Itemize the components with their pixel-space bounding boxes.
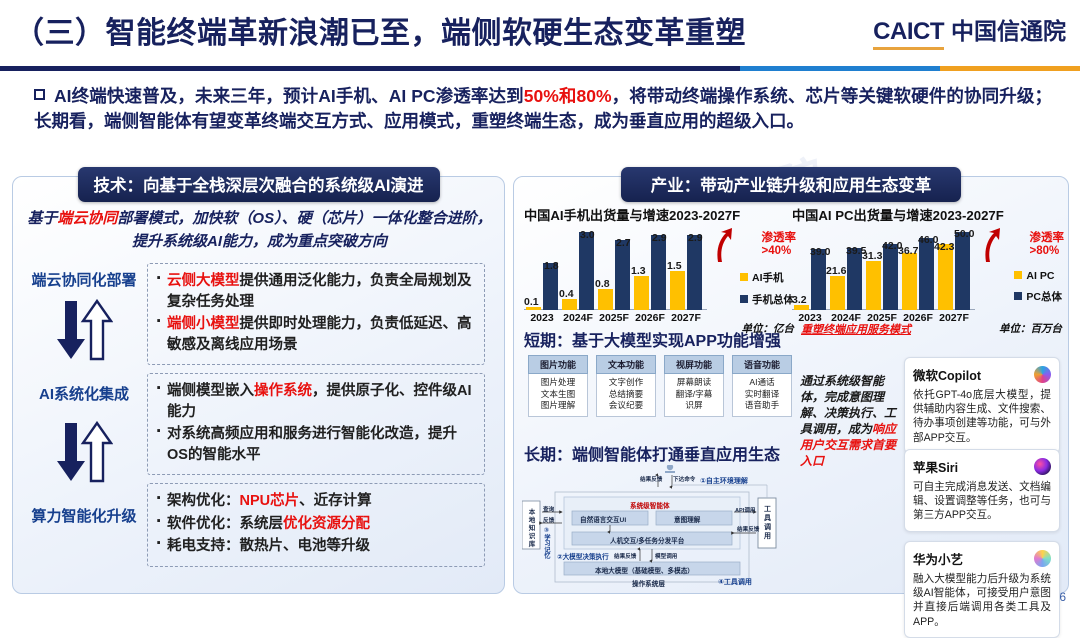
vendor-description: 融入大模型能力后升级为系统级AI智能体，可接受用户意图并直接后端调用各类工具及A…	[913, 572, 1051, 629]
func-col-header: 视屏功能	[664, 355, 724, 374]
detail-box-compute-upgrade: 架构优化：NPU芯片、近存计算 软件优化：系统层优化资源分配 耗电支持：散热片、…	[147, 483, 485, 567]
diagram-label-feedback: 反馈	[543, 516, 554, 524]
func-col-voice: 语音功能 AI通话 实时翻译 语音助手	[732, 355, 792, 417]
tech-lead-highlight: 端云协同	[57, 210, 117, 227]
x-tick-label: 2026F	[632, 312, 668, 324]
vendor-description: 依托GPT-4o底层大模型，提供辅助内容生成、文件搜索、待办事项创建等功能，可与…	[913, 388, 1051, 445]
bullet-text: 对系统高频应用和服务进行智能化改造，提升OS的智能水平	[167, 426, 457, 463]
func-item: 图片理解	[529, 400, 587, 412]
chart-plot-area: 0.1 1.8 0.4 3.0 0.8 2.7 1.3 2.9 1.5 2.9 …	[524, 226, 707, 322]
agent-architecture-diagram: 本地知识库 ③学习记忆 查询 反馈 结果反馈 下达命令 ①自主环境理解 系统级智…	[522, 465, 802, 587]
func-item: 实时翻译	[733, 389, 791, 401]
penetration-annotation: 渗透率 >80%	[1030, 232, 1065, 258]
func-col-screen: 视屏功能 屏幕朗读 翻译/字幕 识屏	[664, 355, 724, 417]
diagram-label-nlui: 自然语言交互UI	[580, 514, 626, 524]
copilot-icon	[1034, 366, 1051, 383]
bar-pc-total	[811, 249, 826, 310]
list-item: 云侧大模型提供通用泛化能力，负责全局规划及复杂任务处理	[154, 271, 476, 312]
bar-value-label: 50.0	[954, 228, 974, 240]
legend-item: PC总体	[1014, 289, 1062, 304]
vendor-card-copilot[interactable]: 微软Copilot 依托GPT-4o底层大模型，提供辅助内容生成、文件搜索、待办…	[904, 357, 1060, 454]
legend-item: AI PC	[1014, 270, 1062, 282]
bidirectional-arrow-icon	[55, 421, 113, 483]
chart-unit: 单位：百万台	[999, 321, 1062, 336]
legend-label: AI手机	[752, 272, 784, 284]
bar-value-label: 31.3	[862, 250, 882, 262]
page-title: （三）智能终端革新浪潮已至，端侧软硬生态变革重塑	[14, 8, 746, 52]
vendor-description: 可自主完成消息发送、文档编辑、设置调整等任务，也可与第三方APP交互。	[913, 480, 1051, 523]
bar-value-label: 0.1	[524, 296, 539, 308]
page-number: 6	[1059, 590, 1066, 604]
bar-ai-phone	[670, 271, 685, 310]
reshape-service-note: 重塑终端应用服务模式	[796, 323, 916, 337]
chart-title: 中国AI手机出货量与增速2023-2027F	[524, 205, 796, 224]
x-tick-label: 2024F	[560, 312, 596, 324]
bar-ai-pc	[866, 261, 881, 310]
diagram-label-platform: 人机交互/多任务分发平台	[610, 535, 684, 545]
diagram-label-api-call: API调用	[735, 506, 756, 514]
bar-ai-pc	[902, 253, 917, 310]
growth-arrow-icon	[980, 228, 1002, 262]
annotation-line-1: 渗透率	[762, 232, 797, 245]
func-item: 会议纪要	[597, 400, 655, 412]
header-divider	[0, 66, 1080, 71]
x-tick-label: 2023	[524, 312, 560, 324]
chart-legend: AI手机 手机总体	[740, 270, 794, 314]
x-tick-label: 2027F	[668, 312, 704, 324]
diagram-label-intent: 意图理解	[674, 514, 700, 524]
bullet-text: 耗电支持：散热片、电池等升级	[167, 538, 370, 554]
bar-pc-total	[919, 238, 934, 310]
bar-value-label: 2.9	[652, 232, 667, 244]
technology-stack: 端云协同化部署 AI系统化集成 算力智能化升级 云侧大模型提供通用泛化能力，负责…	[21, 261, 498, 587]
bullet-text: 、近存计算	[299, 493, 372, 509]
bar-ai-phone	[598, 289, 613, 310]
bar-pc-total	[847, 248, 862, 310]
func-col-image: 图片功能 图片处理 文本生图 图片理解	[528, 355, 588, 417]
vendor-name: 苹果Siri	[913, 457, 958, 476]
diagram-label-tool-box: 工具调用	[762, 505, 773, 541]
func-col-body: 屏幕朗读 翻译/字幕 识屏	[664, 374, 724, 417]
func-col-body: 文字创作 总结摘要 会议纪要	[596, 374, 656, 417]
diagram-label-result-feedback: 结果反馈	[640, 475, 662, 483]
slide-header: （三）智能终端革新浪潮已至，端侧软硬生态变革重塑 CAICT 中国信通院	[0, 0, 1080, 70]
diagram-label-issue-command: 下达命令	[673, 475, 695, 483]
func-item: 语音助手	[733, 400, 791, 412]
diagram-label-step4: ④工具调用	[718, 577, 752, 587]
bar-ai-phone	[634, 276, 649, 310]
list-item: 架构优化：NPU芯片、近存计算	[154, 491, 476, 512]
annotation-line-2: >40%	[762, 245, 797, 258]
func-item: 图片处理	[529, 377, 587, 389]
bullet-highlight: 优化资源分配	[283, 516, 370, 532]
func-col-body: 图片处理 文本生图 图片理解	[528, 374, 588, 417]
bar-ai-phone	[562, 299, 577, 310]
app-function-grid: 图片功能 图片处理 文本生图 图片理解 文本功能 文字创作 总结摘要 会议纪要 …	[528, 355, 792, 417]
bar-value-label: 1.8	[544, 260, 559, 272]
short-term-heading: 短期：基于大模型实现APP功能增强	[524, 327, 781, 351]
bar-ai-pc	[938, 244, 953, 310]
diagram-label-query: 查询	[543, 505, 554, 513]
annotation-line-2: >80%	[1030, 245, 1065, 258]
diagram-label-model-call: 模型调用	[655, 552, 677, 560]
vendor-name: 华为小艺	[913, 549, 963, 568]
penetration-annotation: 渗透率 >40%	[762, 232, 797, 258]
chart-title: 中国AI PC出货量与增速2023-2027F	[792, 205, 1064, 224]
diagram-label-local-model: 本地大模型（基础模型、多模态）	[595, 565, 694, 575]
caict-logo: CAICT 中国信通院	[873, 12, 1066, 46]
diagram-label-result-feedback-3: 结果反馈	[737, 525, 759, 533]
bar-value-label: 2.7	[616, 237, 631, 249]
detail-box-ai-integration: 端侧模型嵌入操作系统，提供原子化、控件级AI能力 对系统高频应用和服务进行智能化…	[147, 373, 485, 475]
legend-label: PC总体	[1026, 291, 1062, 303]
industry-panel-header: 产业：带动产业链升级和应用生态变革	[621, 167, 961, 202]
list-item: 软件优化：系统层优化资源分配	[154, 514, 476, 535]
diagram-label-learn-memory: ③学习记忆	[542, 527, 551, 559]
chart-plot-area: 3.2 39.0 21.6 39.5 31.3 42.0 36.7 46.0 4…	[792, 226, 975, 322]
chart-ai-pc: 中国AI PC出货量与增速2023-2027F 3.2 39.0 21.6 39…	[792, 205, 1064, 334]
bar-value-label: 3.2	[792, 294, 807, 306]
legend-item: AI手机	[740, 270, 794, 285]
bar-value-label: 0.4	[559, 288, 574, 300]
bar-value-label: 36.7	[898, 245, 918, 257]
bar-value-label: 21.6	[826, 265, 846, 277]
vendor-name: 微软Copilot	[913, 365, 981, 384]
func-item: 屏幕朗读	[665, 377, 723, 389]
bar-value-label: 1.3	[631, 265, 646, 277]
bar-value-label: 39.0	[810, 246, 830, 258]
diagram-label-result-feedback-2: 结果反馈	[614, 552, 636, 560]
technology-panel-header: 技术：向基于全栈深层次融合的系统级AI演进	[78, 167, 440, 202]
stack-label-compute-upgrade: 算力智能化升级	[21, 505, 147, 526]
bar-group	[866, 226, 900, 310]
bullet-pre: 架构优化：	[167, 493, 240, 509]
list-item: 端侧模型嵌入操作系统，提供原子化、控件级AI能力	[154, 381, 476, 422]
bar-value-label: 1.5	[667, 260, 682, 272]
bullet-highlight: 操作系统	[254, 383, 312, 399]
stack-label-ai-integration: AI系统化集成	[21, 383, 147, 404]
bar-pc-total	[883, 244, 898, 310]
diagram-label-step2: ②大模型决策执行	[557, 551, 609, 561]
bar-ai-pc	[830, 276, 845, 310]
square-bullet-icon	[34, 89, 45, 100]
func-col-body: AI通话 实时翻译 语音助手	[732, 374, 792, 417]
bar-pc-total	[955, 232, 970, 310]
func-col-header: 文本功能	[596, 355, 656, 374]
agent-entry-text: 通过系统级智能体，完成意图理解、决策执行、工具调用，成为响应用户交互需求首要入口	[800, 373, 904, 469]
chart-ai-phone: 中国AI手机出货量与增速2023-2027F 0.1 1.8 0.4 3.0 0…	[524, 205, 796, 334]
bullet-highlight: 云侧大模型	[167, 273, 240, 289]
lead-text-a: AI终端快速普及，未来三年，预计AI手机、AI PC渗透率达到	[54, 86, 524, 106]
stack-label-column: 端云协同化部署 AI系统化集成 算力智能化升级	[21, 261, 147, 587]
bullet-highlight: 端侧小模型	[167, 316, 240, 332]
func-item: 文字创作	[597, 377, 655, 389]
bidirectional-arrow-icon	[55, 299, 113, 361]
bar-value-label: 42.3	[934, 241, 954, 253]
technology-lead-text: 基于端云协同部署模式，加快软（OS）、硬（芯片）一体化整合进阶，提升系统级AI能…	[27, 207, 492, 253]
func-item: 总结摘要	[597, 389, 655, 401]
func-col-header: 图片功能	[528, 355, 588, 374]
long-term-heading: 长期：端侧智能体打通垂直应用生态	[524, 441, 780, 465]
industry-panel: 产业：带动产业链升级和应用生态变革 中国AI手机出货量与增速2023-2027F…	[513, 176, 1069, 594]
logo-abbr: CAICT	[873, 18, 944, 46]
list-item: 对系统高频应用和服务进行智能化改造，提升OS的智能水平	[154, 424, 476, 465]
bullet-pre: 端侧模型嵌入	[167, 383, 254, 399]
bar-value-label: 2.9	[688, 232, 703, 244]
lead-highlight: 50%和80%	[524, 86, 612, 106]
diagram-label-step1: ①自主环境理解	[700, 476, 748, 486]
x-tick-label: 2025F	[596, 312, 632, 324]
legend-label: AI PC	[1026, 270, 1054, 282]
siri-icon	[1034, 458, 1051, 475]
bar-phone-total	[615, 240, 630, 310]
tech-lead-b: 部署模式，加快软（OS）、硬（芯片）一体化整合进阶，提升系统级AI能力，成为重点…	[117, 210, 491, 250]
func-item: 文本生图	[529, 389, 587, 401]
stack-label-cloud-device: 端云协同化部署	[21, 269, 147, 290]
list-item: 端侧小模型提供即时处理能力，负责低延迟、高敏感及离线应用场景	[154, 314, 476, 355]
bar-phone-total	[651, 235, 666, 310]
diagram-label-agent-title: 系统级智能体	[630, 500, 670, 510]
func-item: 识屏	[665, 400, 723, 412]
bar-value-label: 3.0	[580, 229, 595, 241]
chart-legend: AI PC PC总体	[1014, 270, 1062, 311]
logo-name: 中国信通院	[951, 12, 1066, 46]
legend-item: 手机总体	[740, 292, 794, 307]
celia-icon	[1034, 550, 1051, 567]
bullet-pre: 软件优化：系统层	[167, 516, 283, 532]
detail-box-cloud-device: 云侧大模型提供通用泛化能力，负责全局规划及复杂任务处理 端侧小模型提供即时处理能…	[147, 263, 485, 365]
bullet-highlight: NPU芯片	[240, 493, 300, 509]
vendor-card-celia[interactable]: 华为小艺 融入大模型能力后升级为系统级AI智能体，可接受用户意图并直接后端调用各…	[904, 541, 1060, 638]
technology-panel: 技术：向基于全栈深层次融合的系统级AI演进 基于端云协同部署模式，加快软（OS）…	[12, 176, 505, 594]
legend-label: 手机总体	[752, 294, 794, 306]
func-col-text: 文本功能 文字创作 总结摘要 会议纪要	[596, 355, 656, 417]
func-col-header: 语音功能	[732, 355, 792, 374]
list-item: 耗电支持：散热片、电池等升级	[154, 536, 476, 557]
annotation-line-1: 渗透率	[1030, 232, 1065, 245]
lead-paragraph: AI终端快速普及，未来三年，预计AI手机、AI PC渗透率达到50%和80%，将…	[34, 84, 1052, 134]
vendor-card-siri[interactable]: 苹果Siri 可自主完成消息发送、文档编辑、设置调整等任务，也可与第三方APP交…	[904, 449, 1060, 532]
bar-phone-total	[687, 235, 702, 310]
func-item: 翻译/字幕	[665, 389, 723, 401]
tech-lead-a: 基于	[27, 210, 57, 227]
diagram-label-local-kb: 本地知识库	[524, 509, 540, 549]
growth-arrow-icon	[712, 228, 734, 262]
bar-value-label: 0.8	[595, 278, 610, 290]
x-tick-label: 2027F	[936, 312, 972, 324]
bar-phone-total	[579, 232, 594, 310]
stack-detail-column: 云侧大模型提供通用泛化能力，负责全局规划及复杂任务处理 端侧小模型提供即时处理能…	[147, 261, 498, 587]
func-item: AI通话	[733, 377, 791, 389]
diagram-label-os-layer: 操作系统层	[632, 578, 665, 588]
